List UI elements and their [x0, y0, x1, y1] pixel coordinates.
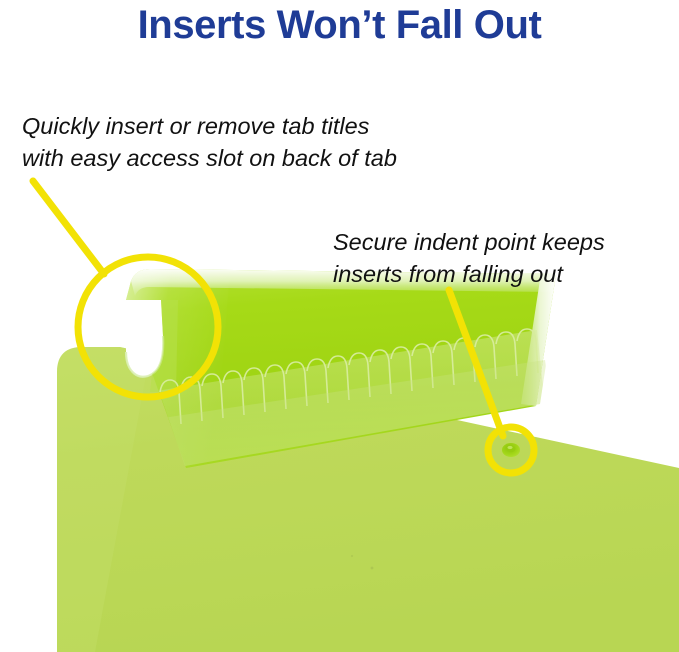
- leader-line-icon: [33, 181, 104, 274]
- callout-indent-point-caption: Secure indent point keeps inserts from f…: [333, 226, 605, 290]
- product-infographic: Inserts Won’t Fall Out: [0, 0, 679, 652]
- tab-indent-point: [502, 443, 520, 457]
- callout-line-1: Secure indent point keeps: [333, 226, 605, 258]
- product-illustration: [0, 0, 679, 652]
- callout-line-2: inserts from falling out: [333, 258, 605, 290]
- callout-line-2: with easy access slot on back of tab: [22, 142, 397, 174]
- callout-line-1: Quickly insert or remove tab titles: [22, 110, 397, 142]
- callout-access-slot-caption: Quickly insert or remove tab titles with…: [22, 110, 397, 174]
